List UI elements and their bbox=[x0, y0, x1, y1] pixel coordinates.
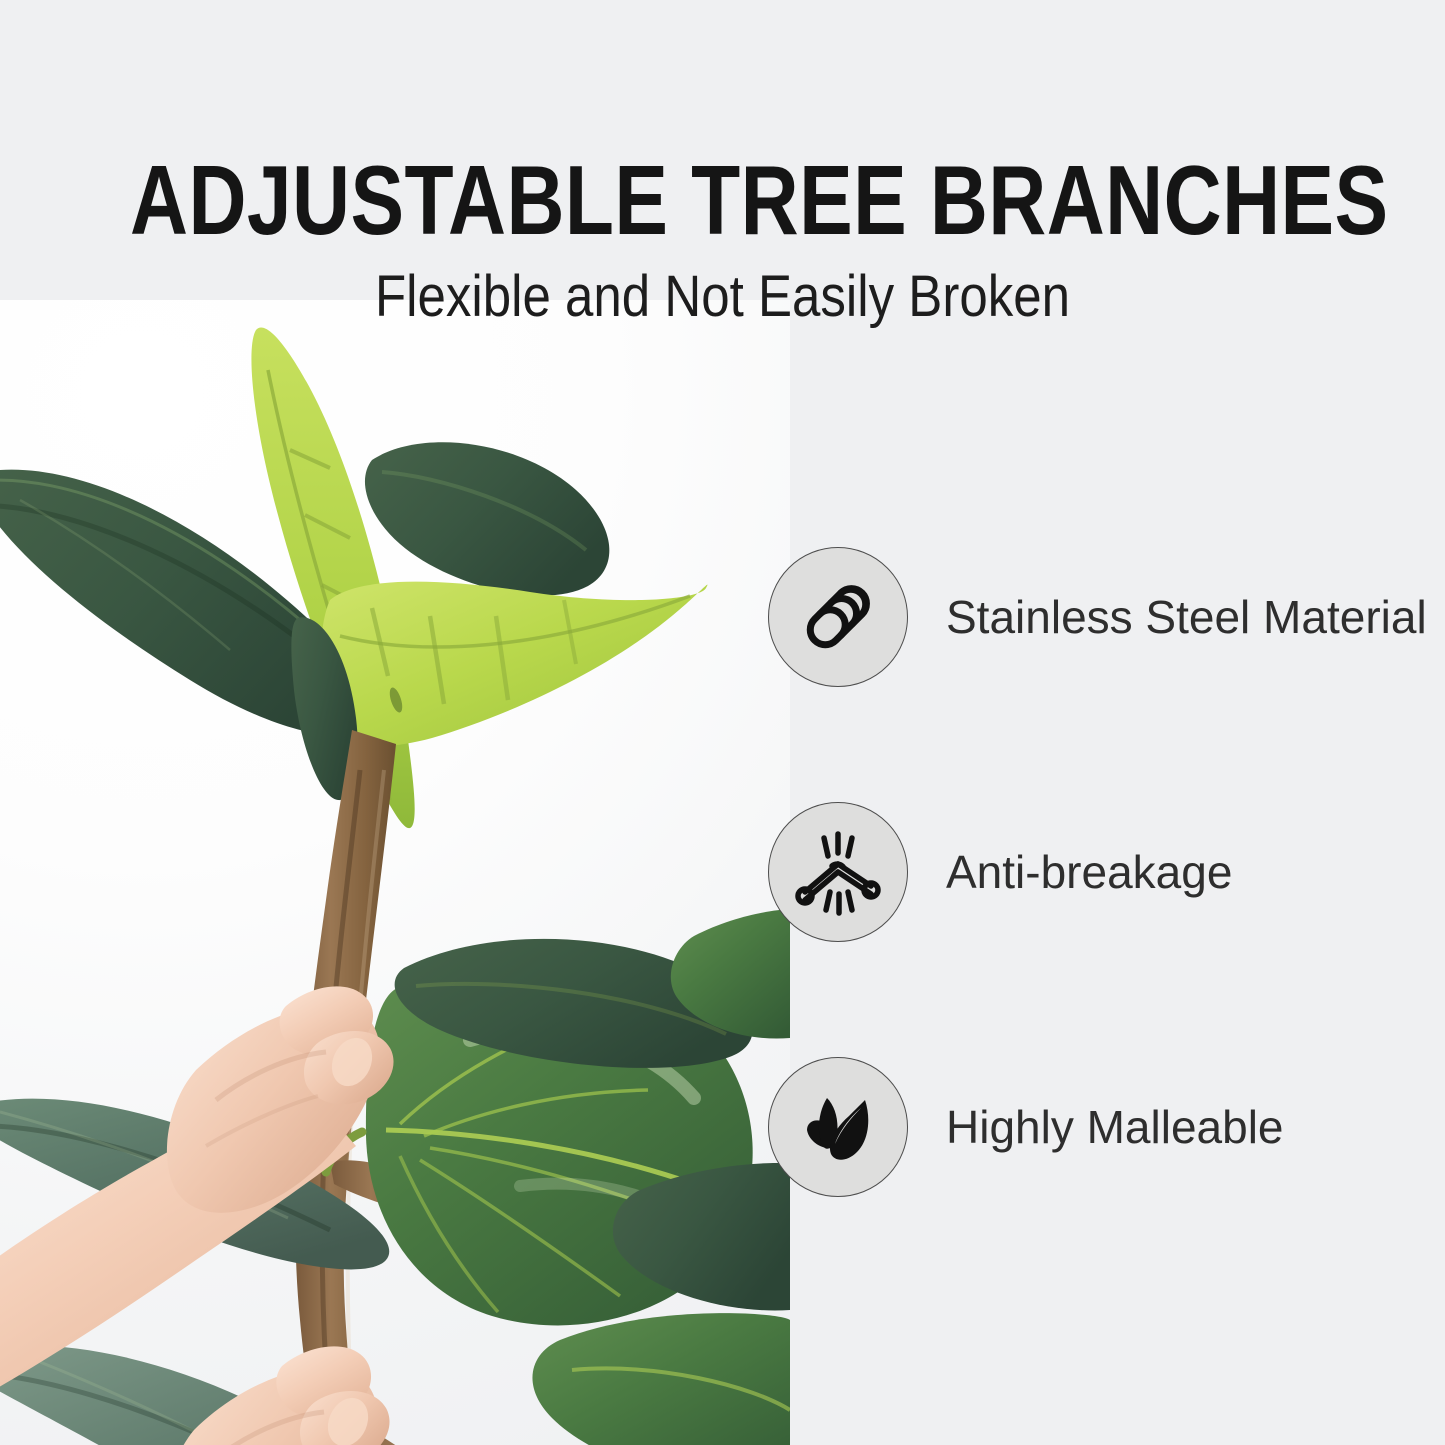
feature-item-anti-breakage: Anti-breakage bbox=[768, 801, 1408, 943]
feature-item-highly-malleable: Highly Malleable bbox=[768, 1056, 1408, 1198]
page-subtitle: Flexible and Not Easily Broken bbox=[87, 264, 1359, 330]
feature-label: Stainless Steel Material bbox=[946, 592, 1427, 642]
feature-label: Anti-breakage bbox=[946, 847, 1232, 897]
plant-illustration bbox=[0, 300, 790, 1445]
feature-item-stainless-steel: Stainless Steel Material bbox=[768, 546, 1408, 688]
leaves-icon bbox=[768, 1057, 908, 1197]
product-feature-banner: ADJUSTABLE TREE BRANCHES Flexible and No… bbox=[0, 0, 1445, 1445]
product-photo bbox=[0, 300, 790, 1445]
leaf-upper-dark-right bbox=[365, 442, 609, 595]
leaf-lower-right-b bbox=[532, 1313, 790, 1445]
feature-list: Stainless Steel Material bbox=[768, 546, 1408, 1198]
header: ADJUSTABLE TREE BRANCHES Flexible and No… bbox=[0, 0, 1445, 330]
feature-label: Highly Malleable bbox=[946, 1102, 1284, 1152]
leaf-bright-wide bbox=[320, 582, 707, 747]
steel-rod-icon bbox=[768, 547, 908, 687]
page-title: ADJUSTABLE TREE BRANCHES bbox=[130, 152, 1315, 248]
bent-rod-stress-icon bbox=[768, 802, 908, 942]
